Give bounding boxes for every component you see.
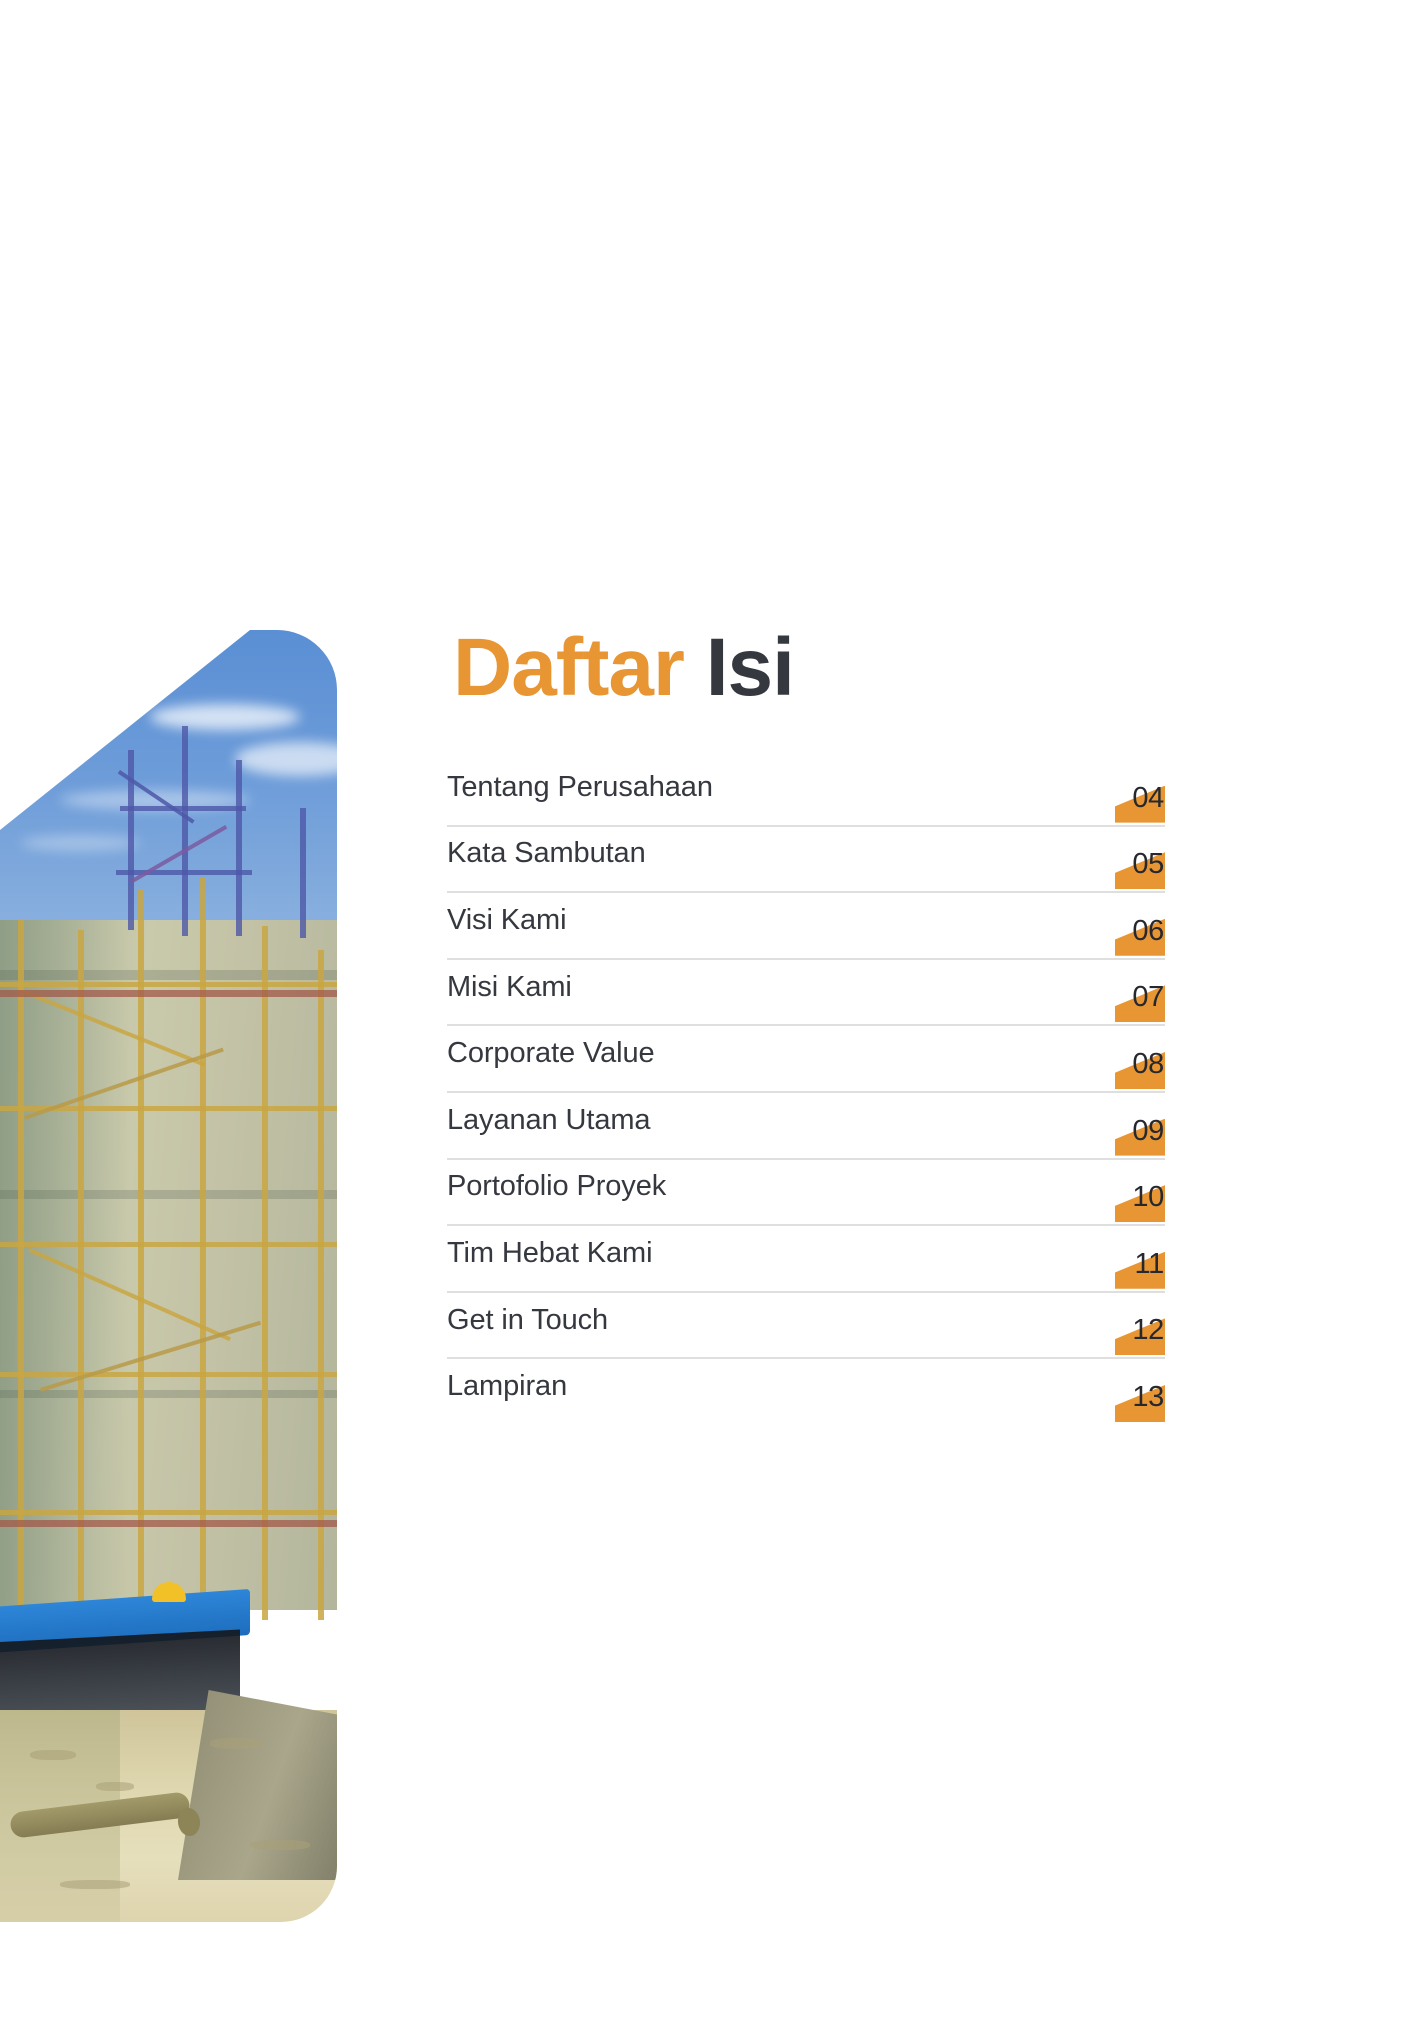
scaffold-plank [0, 1520, 337, 1527]
cloud-shape [20, 835, 140, 851]
toc-entry-label: Visi Kami [447, 906, 566, 945]
toc-page-number: 09 [1115, 1117, 1164, 1146]
scaffold-plank [0, 990, 337, 997]
debris [210, 1738, 262, 1749]
toc-page-number: 06 [1115, 917, 1164, 946]
toc-entry[interactable]: Get in Touch 12 [447, 1293, 1165, 1360]
facade-band [0, 1190, 337, 1199]
tower-pole [182, 726, 188, 936]
toc-entry-label: Kata Sambutan [447, 839, 646, 878]
toc-entry-page: 13 [1115, 1374, 1165, 1424]
toc-entry[interactable]: Tim Hebat Kami 11 [447, 1226, 1165, 1293]
toc-entry-page: 04 [1115, 775, 1165, 825]
toc-entry-page: 05 [1115, 841, 1165, 891]
toc-entry-label: Portofolio Proyek [447, 1172, 666, 1211]
toc-entry[interactable]: Layanan Utama 09 [447, 1093, 1165, 1160]
debris [96, 1782, 134, 1791]
toc-page-number: 10 [1115, 1183, 1164, 1212]
scaffold-rail [0, 1510, 337, 1515]
toc-entry-page: 12 [1115, 1307, 1165, 1357]
scaffold-rail [0, 1242, 337, 1247]
toc-entry-page: 10 [1115, 1174, 1165, 1224]
toc-page-number: 13 [1115, 1383, 1164, 1412]
debris [250, 1840, 310, 1850]
debris [60, 1880, 130, 1889]
toc-entry-page: 11 [1115, 1241, 1165, 1291]
tower-rail [116, 870, 252, 875]
construction-site-photo [0, 630, 337, 1922]
toc-entry-label: Tim Hebat Kami [447, 1239, 652, 1278]
toc-page-number: 07 [1115, 983, 1164, 1012]
toc-entry-label: Layanan Utama [447, 1106, 650, 1145]
toc-entry-page: 09 [1115, 1108, 1165, 1158]
page-title-accent: Daftar [453, 622, 684, 713]
document-page: Daftar Isi Tentang Perusahaan 04 Kata Sa… [0, 0, 1428, 2028]
toc-entry[interactable]: Lampiran 13 [447, 1359, 1165, 1424]
toc-entry-label: Tentang Perusahaan [447, 773, 713, 812]
photo-clip-mask [0, 630, 337, 1922]
debris [30, 1750, 76, 1760]
scaffold-pole [18, 920, 24, 1620]
toc-page-number: 12 [1115, 1316, 1164, 1345]
table-of-contents: Tentang Perusahaan 04 Kata Sambutan 05 V… [447, 760, 1165, 1424]
toc-entry-page: 07 [1115, 974, 1165, 1024]
toc-page-number: 05 [1115, 850, 1164, 879]
toc-entry-label: Misi Kami [447, 973, 572, 1012]
toc-entry[interactable]: Visi Kami 06 [447, 893, 1165, 960]
cloud-shape [150, 704, 300, 730]
photo-artwork [0, 630, 337, 1922]
tower-pole [236, 760, 242, 936]
toc-entry-page: 08 [1115, 1041, 1165, 1091]
toc-entry[interactable]: Kata Sambutan 05 [447, 827, 1165, 894]
toc-page-number: 08 [1115, 1050, 1164, 1079]
toc-entry-page: 06 [1115, 908, 1165, 958]
facade-band [0, 970, 337, 980]
facade-band [0, 1390, 337, 1398]
toc-entry-label: Get in Touch [447, 1306, 608, 1345]
toc-entry[interactable]: Misi Kami 07 [447, 960, 1165, 1027]
toc-page-number: 04 [1115, 784, 1164, 813]
page-title: Daftar Isi [453, 627, 794, 709]
toc-entry[interactable]: Portofolio Proyek 10 [447, 1160, 1165, 1227]
toc-page-number: 11 [1115, 1250, 1164, 1279]
tower-pole [300, 808, 306, 938]
scaffold-rail [0, 1372, 337, 1377]
toc-entry[interactable]: Tentang Perusahaan 04 [447, 760, 1165, 827]
toc-entry[interactable]: Corporate Value 08 [447, 1026, 1165, 1093]
page-title-plain: Isi [706, 622, 794, 713]
scaffold-pole [262, 926, 268, 1620]
toc-entry-label: Corporate Value [447, 1039, 655, 1078]
tower-rail [120, 806, 246, 811]
toc-entry-label: Lampiran [447, 1372, 567, 1411]
scaffold-rail [0, 982, 337, 987]
